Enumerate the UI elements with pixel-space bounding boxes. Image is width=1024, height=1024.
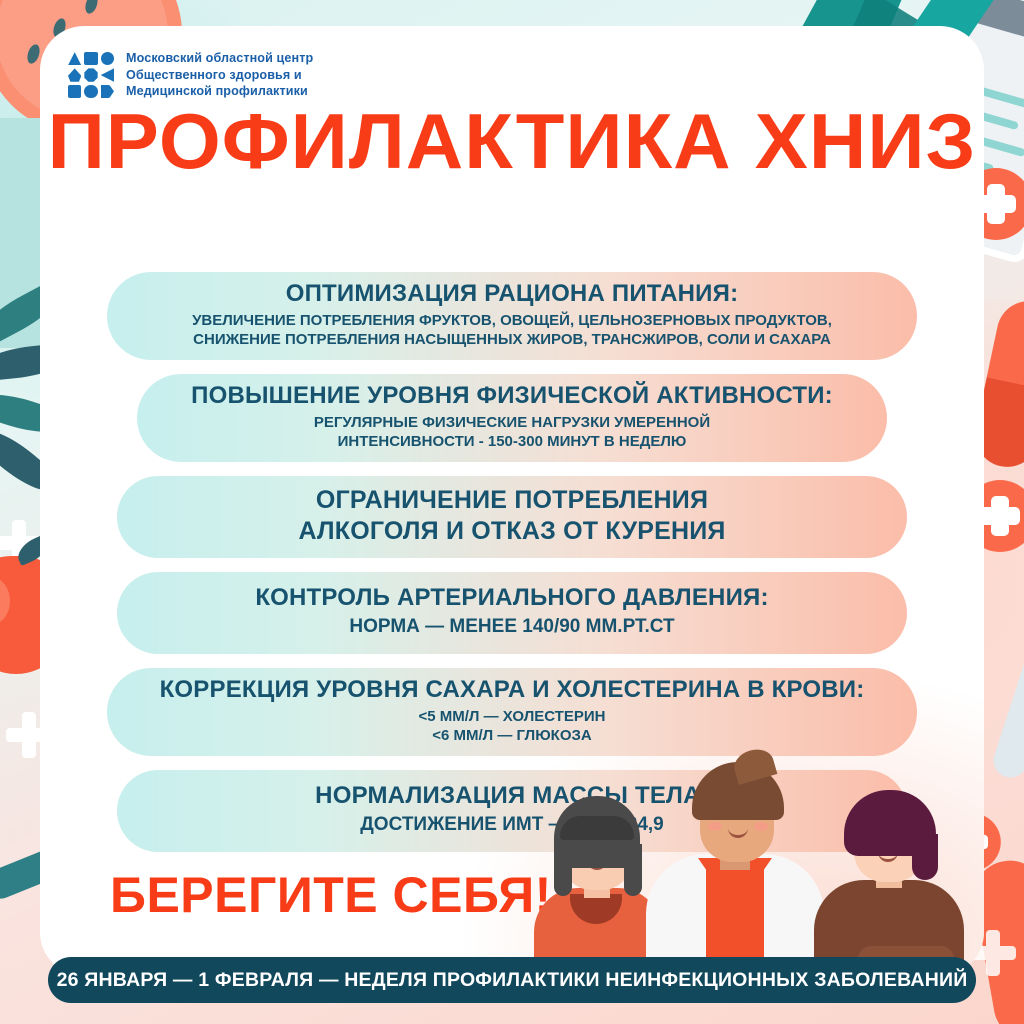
recommendation-title: ОПТИМИЗАЦИЯ РАЦИОНА ПИТАНИЯ: <box>286 280 739 308</box>
page-title: ПРОФИЛАКТИКА ХНИЗ <box>40 102 984 180</box>
recommendation-subtitle: УВЕЛИЧЕНИЕ ПОТРЕБЛЕНИЯ ФРУКТОВ, ОВОЩЕЙ, … <box>192 311 832 349</box>
slogan-text: БЕРЕГИТЕ СЕБЯ! <box>110 866 552 924</box>
woman-character <box>814 786 964 976</box>
poster-card: Московский областной центр Общественного… <box>40 26 984 976</box>
footer-banner: 26 ЯНВАРЯ — 1 ФЕВРАЛЯ — НЕДЕЛЯ ПРОФИЛАКТ… <box>48 957 976 1003</box>
logo-mark-icon <box>68 52 114 98</box>
recommendation-item: ПОВЫШЕНИЕ УРОВНЯ ФИЗИЧЕСКОЙ АКТИВНОСТИ: … <box>137 374 887 462</box>
logo-line-1: Московский областной центр <box>126 50 313 67</box>
footer-text: 26 ЯНВАРЯ — 1 ФЕВРАЛЯ — НЕДЕЛЯ ПРОФИЛАКТ… <box>57 969 968 992</box>
man-character <box>640 728 830 976</box>
recommendation-subtitle: РЕГУЛЯРНЫЕ ФИЗИЧЕСКИЕ НАГРУЗКИ УМЕРЕННОЙ… <box>314 413 710 451</box>
white-cross-icon <box>0 520 42 566</box>
recommendation-item: КОНТРОЛЬ АРТЕРИАЛЬНОГО ДАВЛЕНИЯ: НОРМА —… <box>117 572 907 654</box>
poster: Московский областной центр Общественного… <box>0 0 1024 1024</box>
organization-name: Московский областной центр Общественного… <box>126 50 313 100</box>
recommendation-title: ОГРАНИЧЕНИЕ ПОТРЕБЛЕНИЯ АЛКОГОЛЯ И ОТКАЗ… <box>298 485 725 547</box>
recommendation-item: ОПТИМИЗАЦИЯ РАЦИОНА ПИТАНИЯ: УВЕЛИЧЕНИЕ … <box>107 272 917 360</box>
recommendation-item: ОГРАНИЧЕНИЕ ПОТРЕБЛЕНИЯ АЛКОГОЛЯ И ОТКАЗ… <box>117 476 907 558</box>
recommendation-title: ПОВЫШЕНИЕ УРОВНЯ ФИЗИЧЕСКОЙ АКТИВНОСТИ: <box>191 382 833 410</box>
organization-logo: Московский областной центр Общественного… <box>68 50 313 100</box>
recommendation-subtitle: НОРМА — МЕНЕЕ 140/90 ММ.РТ.СТ <box>349 615 674 639</box>
characters-illustration <box>514 716 984 976</box>
thermometer-icon <box>989 638 1024 782</box>
recommendation-title: КОНТРОЛЬ АРТЕРИАЛЬНОГО ДАВЛЕНИЯ: <box>255 584 768 612</box>
recommendation-title: КОРРЕКЦИЯ УРОВНЯ САХАРА И ХОЛЕСТЕРИНА В … <box>160 676 865 704</box>
logo-line-2: Общественного здоровья и <box>126 67 313 84</box>
